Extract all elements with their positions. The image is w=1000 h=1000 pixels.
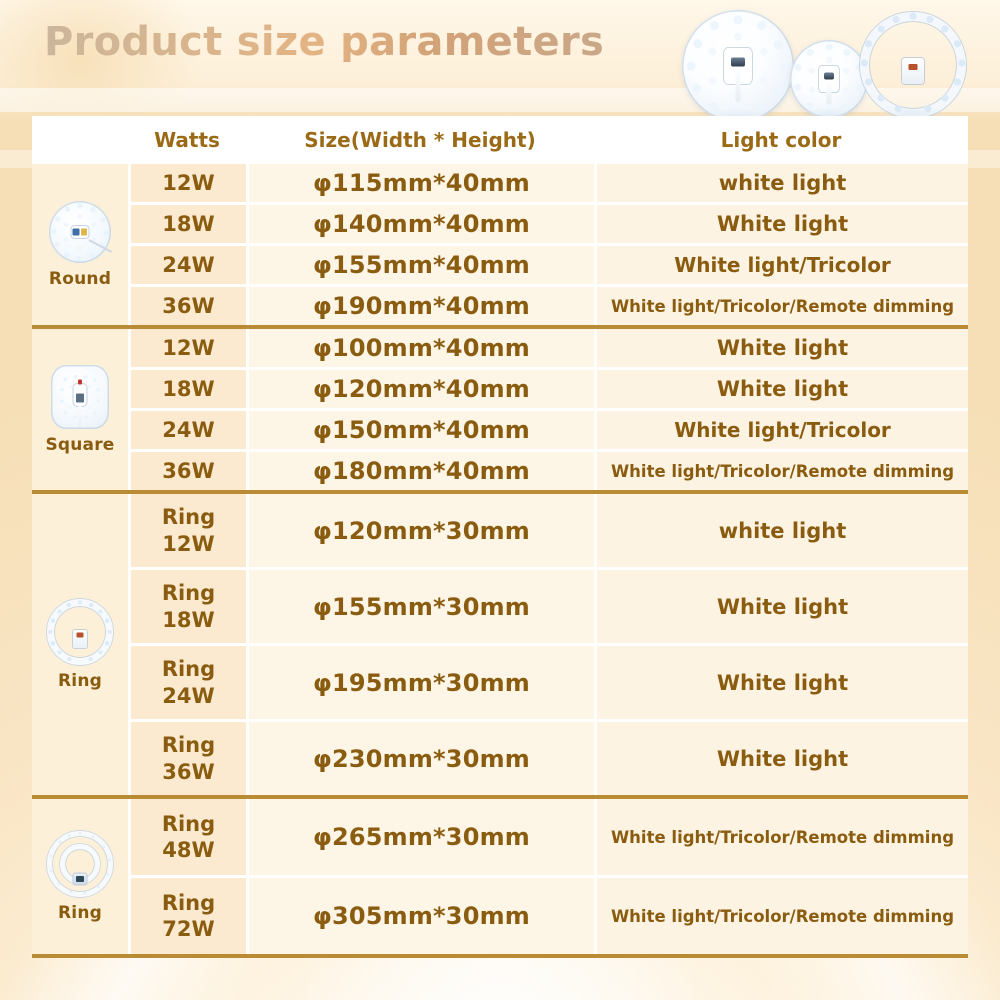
- cell-light-color: White light: [597, 329, 968, 367]
- driver-chip: [76, 393, 84, 402]
- header-watts: Watts: [128, 128, 246, 152]
- table-section-ring-large: Ring Ring 48W φ265mm*30mm White light/Tr…: [32, 795, 968, 958]
- ring-led-module: [860, 12, 966, 118]
- table-row: Ring 72W φ305mm*30mm White light/Tricolo…: [131, 878, 968, 954]
- square-module-icon: [51, 365, 109, 429]
- cell-watts: 12W: [131, 329, 249, 367]
- cell-light-color: White light/Tricolor/Remote dimming: [597, 799, 968, 875]
- module-stem: [736, 68, 741, 102]
- watts-line-1: Ring: [162, 732, 215, 758]
- watts-line-2: 72W: [162, 916, 214, 942]
- cell-light-color: white light: [597, 494, 968, 567]
- product-type-label: Square: [45, 435, 114, 455]
- header-light-color: Light color: [594, 128, 968, 152]
- cell-watts: 24W: [131, 411, 249, 449]
- cell-size: φ155mm*40mm: [249, 246, 597, 284]
- cell-size: φ190mm*40mm: [249, 287, 597, 325]
- cell-watts: Ring 72W: [131, 878, 249, 954]
- section-rows: 12W φ115mm*40mm white light 18W φ140mm*4…: [131, 164, 968, 325]
- cell-light-color: White light: [597, 570, 968, 643]
- driver-chip: [731, 57, 745, 66]
- module-stem: [827, 81, 832, 105]
- table-row: 24W φ155mm*40mm White light/Tricolor: [131, 246, 968, 287]
- ring-connector: [902, 58, 924, 84]
- cell-watts: Ring 48W: [131, 799, 249, 875]
- cell-watts: Ring 18W: [131, 570, 249, 643]
- section-rows: Ring 48W φ265mm*30mm White light/Tricolo…: [131, 799, 968, 954]
- cell-size: φ180mm*40mm: [249, 452, 597, 490]
- cell-light-color: White light/Tricolor/Remote dimming: [597, 878, 968, 954]
- product-size-table: Watts Size(Width * Height) Light color R…: [32, 116, 968, 958]
- watts-line-2: 24W: [162, 683, 214, 709]
- cell-size: φ120mm*30mm: [249, 494, 597, 567]
- watts-line-2: 12W: [162, 531, 214, 557]
- product-type-label: Ring: [58, 671, 102, 691]
- cell-watts: 18W: [131, 205, 249, 243]
- watts-line-1: Ring: [162, 656, 215, 682]
- cell-size: φ115mm*40mm: [249, 164, 597, 202]
- round-led-module-large: [682, 10, 794, 122]
- cell-watts: Ring 36W: [131, 722, 249, 795]
- cell-size: φ120mm*40mm: [249, 370, 597, 408]
- cell-watts: 36W: [131, 452, 249, 490]
- cell-light-color: white light: [597, 164, 968, 202]
- cell-light-color: White light: [597, 370, 968, 408]
- cell-light-color: White light/Tricolor/Remote dimming: [597, 452, 968, 490]
- table-row: 24W φ150mm*40mm White light/Tricolor: [131, 411, 968, 452]
- table-row: 12W φ100mm*40mm White light: [131, 329, 968, 370]
- phosphor-chip: [81, 228, 87, 235]
- round-module-icon: [49, 201, 111, 263]
- section-rows: Ring 12W φ120mm*30mm white light Ring 18…: [131, 494, 968, 795]
- cell-light-color: White light/Tricolor: [597, 246, 968, 284]
- watts-line-1: Ring: [162, 890, 215, 916]
- ring-module-icon: [47, 599, 113, 665]
- table-row: 36W φ180mm*40mm White light/Tricolor/Rem…: [131, 452, 968, 490]
- cell-light-color: White light: [597, 722, 968, 795]
- round-led-module-small: [790, 40, 868, 118]
- product-type-label: Round: [49, 269, 111, 289]
- table-row: Ring 18W φ155mm*30mm White light: [131, 570, 968, 646]
- watts-line-1: Ring: [162, 580, 215, 606]
- table-row: 18W φ120mm*40mm White light: [131, 370, 968, 411]
- header-size: Size(Width * Height): [246, 128, 594, 152]
- page-title: Product size parameters: [44, 22, 604, 62]
- table-row: Ring 24W φ195mm*30mm White light: [131, 646, 968, 722]
- ring-connector-chip: [909, 64, 918, 70]
- cell-light-color: White light: [597, 646, 968, 719]
- section-rows: 12W φ100mm*40mm White light 18W φ120mm*4…: [131, 329, 968, 490]
- product-icon-cell: Ring: [32, 494, 131, 795]
- table-header-row: Watts Size(Width * Height) Light color: [32, 116, 968, 164]
- table-row: Ring 48W φ265mm*30mm White light/Tricolo…: [131, 799, 968, 878]
- watts-line-1: Ring: [162, 504, 215, 530]
- cell-watts: Ring 12W: [131, 494, 249, 567]
- watts-line-2: 36W: [162, 759, 214, 785]
- cell-size: φ155mm*30mm: [249, 570, 597, 643]
- table-section-square: Square 12W φ100mm*40mm White light 18W φ…: [32, 325, 968, 490]
- table-row: 18W φ140mm*40mm White light: [131, 205, 968, 246]
- cell-watts: 12W: [131, 164, 249, 202]
- driver-chip: [72, 228, 79, 235]
- cell-size: φ100mm*40mm: [249, 329, 597, 367]
- table-row: 12W φ115mm*40mm white light: [131, 164, 968, 205]
- cell-light-color: White light/Tricolor: [597, 411, 968, 449]
- module-stem: [79, 404, 82, 426]
- product-icon-cell: Round: [32, 164, 131, 325]
- driver-chip: [824, 72, 834, 79]
- cell-size: φ195mm*30mm: [249, 646, 597, 719]
- ring-connector-chip: [77, 632, 84, 637]
- table-row: Ring 36W φ230mm*30mm White light: [131, 722, 968, 795]
- table-row: 36W φ190mm*40mm White light/Tricolor/Rem…: [131, 287, 968, 325]
- cell-size: φ305mm*30mm: [249, 878, 597, 954]
- product-type-label: Ring: [58, 903, 102, 923]
- cell-size: φ230mm*30mm: [249, 722, 597, 795]
- watts-line-1: Ring: [162, 811, 215, 837]
- watts-line-2: 48W: [162, 837, 214, 863]
- product-icon-cell: Square: [32, 329, 131, 490]
- indicator-chip: [78, 379, 82, 384]
- double-ring-module-icon: [47, 831, 113, 897]
- ring-connector-chip: [76, 876, 84, 882]
- table-section-ring-small: Ring Ring 12W φ120mm*30mm white light Ri…: [32, 490, 968, 795]
- cell-watts: 24W: [131, 246, 249, 284]
- product-icon-cell: Ring: [32, 799, 131, 954]
- cell-size: φ150mm*40mm: [249, 411, 597, 449]
- cell-watts: 36W: [131, 287, 249, 325]
- watts-line-2: 18W: [162, 607, 214, 633]
- cell-size: φ140mm*40mm: [249, 205, 597, 243]
- table-row: Ring 12W φ120mm*30mm white light: [131, 494, 968, 570]
- cell-light-color: White light: [597, 205, 968, 243]
- cell-light-color: White light/Tricolor/Remote dimming: [597, 287, 968, 325]
- cell-watts: Ring 24W: [131, 646, 249, 719]
- cell-watts: 18W: [131, 370, 249, 408]
- led-dots: [47, 831, 113, 897]
- table-section-round: Round 12W φ115mm*40mm white light 18W φ1…: [32, 164, 968, 325]
- cell-size: φ265mm*30mm: [249, 799, 597, 875]
- page-title-wrap: Product size parameters: [44, 22, 604, 62]
